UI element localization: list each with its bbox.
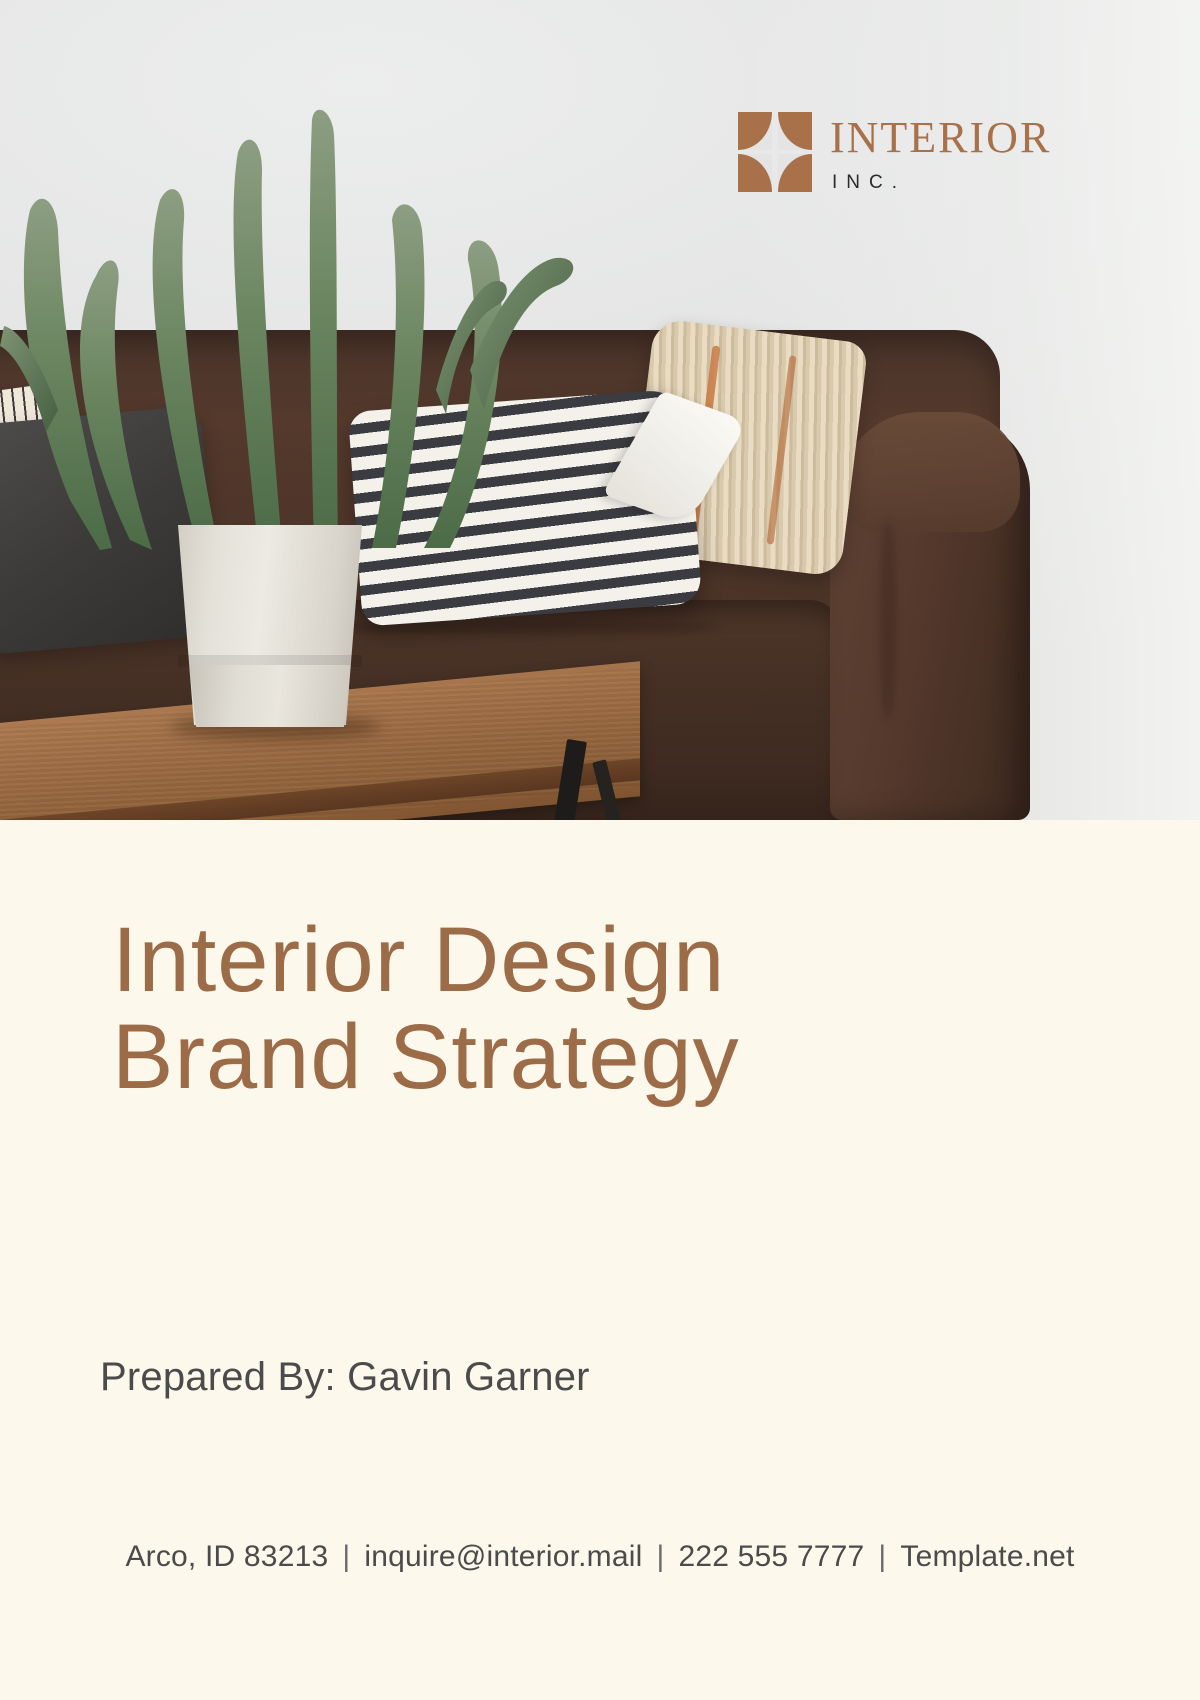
brand-sub-wordmark: INC. — [832, 172, 1051, 194]
interior-inc-four-square-mark-icon — [738, 112, 812, 192]
footer-phone[interactable]: 222 555 7777 — [678, 1540, 864, 1574]
brand-wordmark: INTERIOR — [830, 116, 1051, 160]
page-title-line-2: Brand Strategy — [112, 1009, 1052, 1106]
page-title: Interior Design Brand Strategy — [112, 912, 1052, 1105]
cover-page: INTERIOR INC. Interior Design Brand Stra… — [0, 0, 1200, 1700]
brand-logo: INTERIOR INC. — [738, 112, 1051, 194]
aloe-plant — [0, 80, 620, 580]
footer-separator: | — [864, 1540, 900, 1574]
footer-email[interactable]: inquire@interior.mail — [364, 1540, 642, 1574]
sofa-crease — [300, 620, 720, 634]
footer-contact-bar: Arco, ID 83213 | inquire@interior.mail |… — [100, 1540, 1100, 1574]
footer-separator: | — [328, 1540, 364, 1574]
sofa-crease — [880, 520, 896, 720]
page-title-line-1: Interior Design — [112, 912, 1052, 1009]
prepared-by-label: Prepared By: Gavin Garner — [100, 1355, 590, 1400]
ceramic-pot-base — [186, 665, 354, 727]
footer-website[interactable]: Template.net — [900, 1540, 1074, 1574]
brand-logo-text: INTERIOR INC. — [830, 112, 1051, 194]
hero-photo: INTERIOR INC. — [0, 0, 1200, 820]
footer-address: Arco, ID 83213 — [125, 1540, 328, 1574]
footer-separator: | — [642, 1540, 678, 1574]
